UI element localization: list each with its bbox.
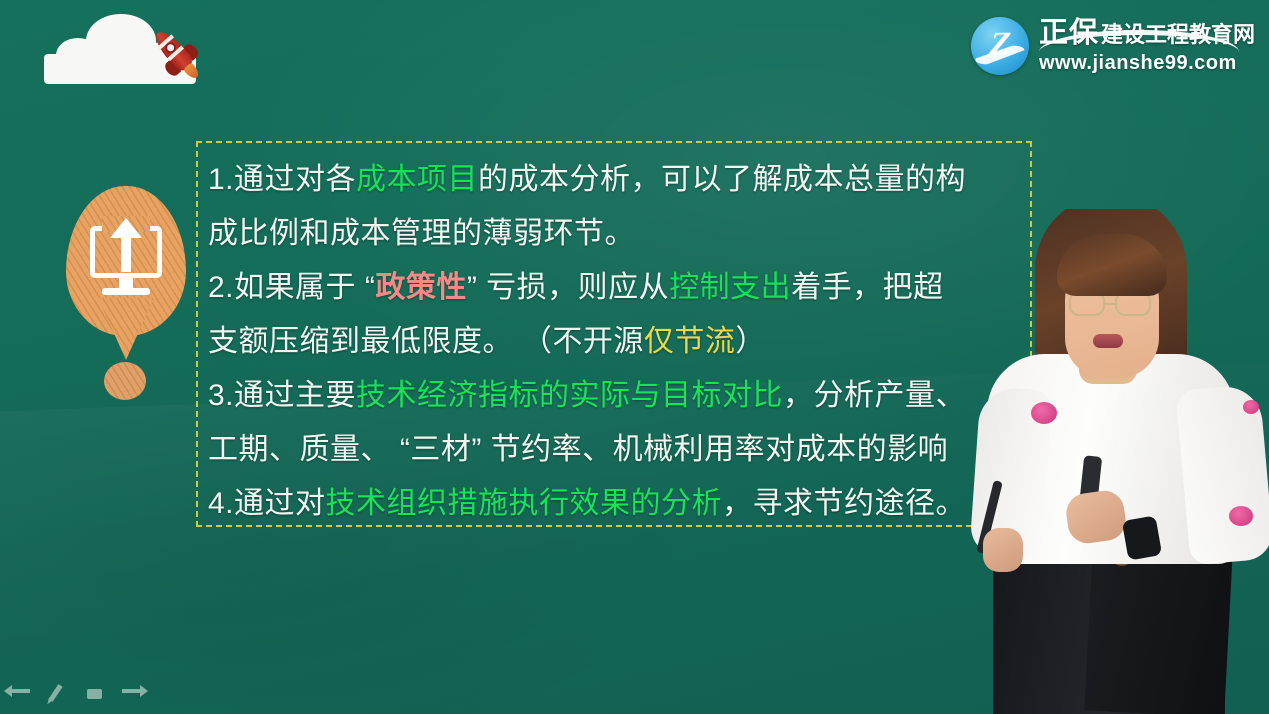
slide-text-line-1: 1.通过对各成本项目的成本分析，可以了解成本总量的构 xyxy=(208,153,1218,207)
orange-pin-upload-icon xyxy=(62,186,190,398)
highlight-yellow: 仅节流 xyxy=(644,325,736,358)
logo-badge-icon: Z xyxy=(971,17,1029,75)
presenter-watch xyxy=(1122,515,1162,560)
text-segment: ） xyxy=(735,325,766,358)
text-segment: 的成本分析，可以了解成本总量的构 xyxy=(478,163,966,196)
previous-slide-button[interactable] xyxy=(8,684,30,704)
site-logo[interactable]: Z 正保 建设工程教育网 www.jianshe99.com xyxy=(971,16,1255,76)
text-segment: 着手，把超 xyxy=(791,271,944,304)
logo-url: www.jianshe99.com xyxy=(1039,53,1255,73)
text-segment: 工期、质量、 “三材” 节约率、机械利用率对成本的影响 xyxy=(208,433,948,466)
blouse-flower xyxy=(1243,400,1259,414)
highlight-green: 控制支出 xyxy=(669,271,791,304)
text-segment: ” 亏损，则应从 xyxy=(467,271,669,304)
arrow-right-icon xyxy=(122,689,140,693)
square-icon xyxy=(87,689,102,699)
highlight-green: 技术组织措施执行效果的分析 xyxy=(326,487,723,520)
next-slide-button[interactable] xyxy=(122,684,144,704)
text-segment: 2.如果属于 “ xyxy=(208,271,375,304)
presenter-glasses-bridge xyxy=(1105,303,1117,305)
eraser-tool-button[interactable] xyxy=(84,684,106,704)
presenter-left-hand xyxy=(983,528,1023,572)
presenter-fringe xyxy=(1057,234,1167,296)
text-segment: 成比例和成本管理的薄弱环节。 xyxy=(208,217,635,250)
presenter-mouth xyxy=(1093,334,1123,348)
text-segment: 4.通过对 xyxy=(208,487,326,520)
text-segment: ，分析产量、 xyxy=(783,379,966,412)
text-segment: 支额压缩到最低限度。 （不开源 xyxy=(208,325,644,358)
blouse-flower xyxy=(1031,402,1057,424)
content-dashed-box: 1.通过对各成本项目的成本分析，可以了解成本总量的构成比例和成本管理的薄弱环节。… xyxy=(196,141,1032,527)
pin-dot-shape xyxy=(104,362,146,400)
pen-tool-button[interactable] xyxy=(46,684,68,704)
monitor-base xyxy=(102,288,150,295)
highlight-green: 成本项目 xyxy=(356,163,478,196)
arrow-left-icon xyxy=(12,689,30,693)
text-segment: 3.通过主要 xyxy=(208,379,356,412)
slide-toolbar[interactable] xyxy=(8,684,144,704)
text-segment: 1.通过对各 xyxy=(208,163,356,196)
presenter-video-overlay xyxy=(969,209,1269,714)
highlight-green: 技术经济指标的实际与目标对比 xyxy=(356,379,783,412)
lecture-slide: 1.通过对各成本项目的成本分析，可以了解成本总量的构成比例和成本管理的薄弱环节。… xyxy=(0,0,1269,714)
blouse-flower xyxy=(1229,506,1253,526)
highlight-red: 政策性 xyxy=(375,271,467,304)
pencil-icon xyxy=(48,684,62,702)
upload-arrow-head xyxy=(110,218,142,238)
cloud-rocket-icon xyxy=(44,18,214,90)
text-segment: ，寻求节约途径。 xyxy=(722,487,966,520)
